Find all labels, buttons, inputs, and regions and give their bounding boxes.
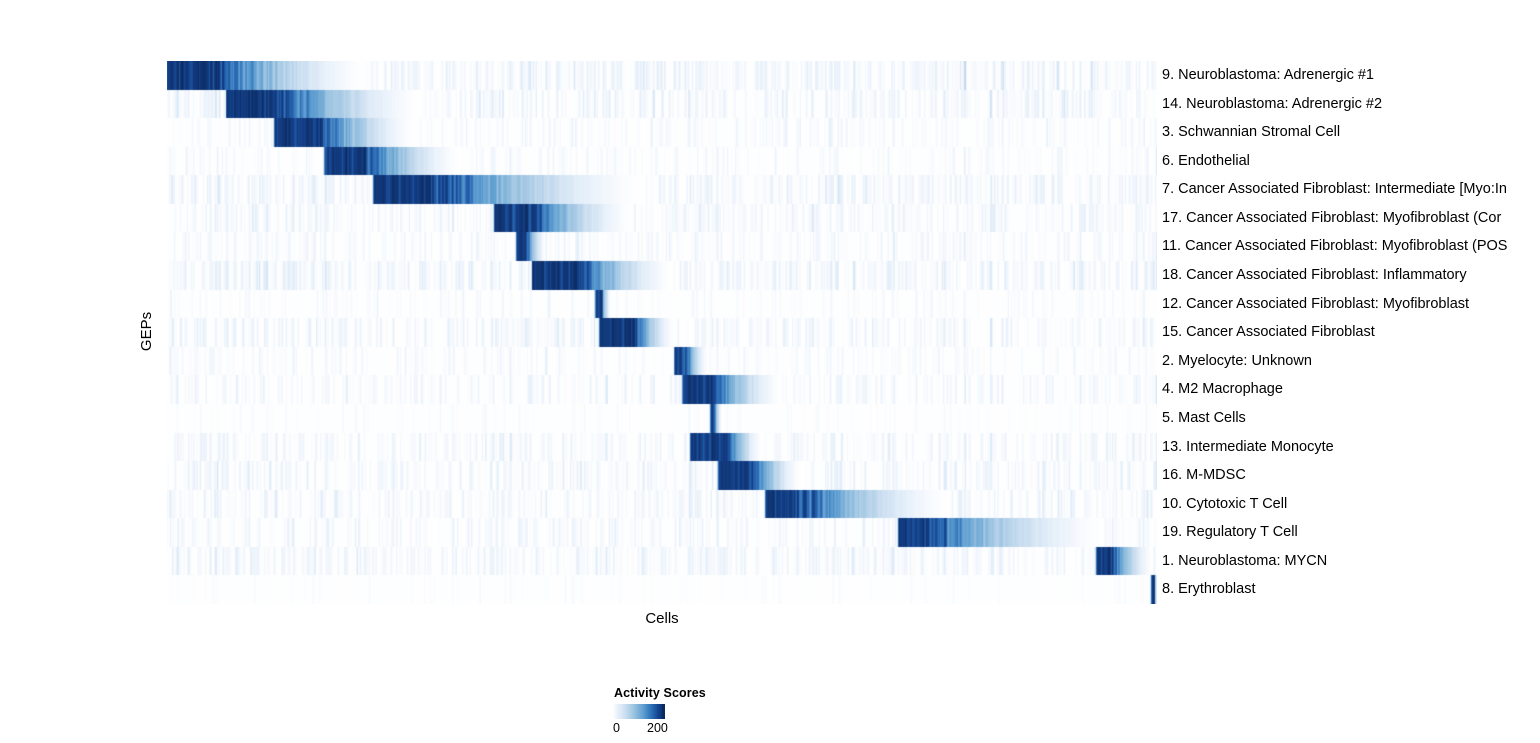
row-label: 10. Cytotoxic T Cell — [1162, 490, 1287, 519]
row-label: 8. Erythroblast — [1162, 575, 1256, 604]
row-label: 16. M-MDSC — [1162, 461, 1246, 490]
colorbar-legend: Activity Scores 0 200 — [613, 686, 813, 738]
heatmap-plot-area — [167, 61, 1157, 604]
row-label: 17. Cancer Associated Fibroblast: Myofib… — [1162, 204, 1501, 233]
colorbar-gradient — [613, 704, 665, 719]
row-label: 1. Neuroblastoma: MYCN — [1162, 547, 1327, 576]
y-axis-title: GEPs — [127, 281, 167, 381]
heatmap-canvas — [167, 61, 1157, 604]
row-label: 11. Cancer Associated Fibroblast: Myofib… — [1162, 232, 1507, 261]
colorbar-tick-min: 0 — [613, 721, 620, 735]
x-axis-title: Cells — [167, 610, 1157, 627]
row-label: 4. M2 Macrophage — [1162, 375, 1283, 404]
row-label: 9. Neuroblastoma: Adrenergic #1 — [1162, 61, 1374, 90]
row-label: 3. Schwannian Stromal Cell — [1162, 118, 1340, 147]
colorbar-tick-labels: 0 200 — [613, 721, 703, 737]
row-label: 15. Cancer Associated Fibroblast — [1162, 318, 1375, 347]
colorbar-max-tickmark — [662, 704, 665, 719]
row-label: 6. Endothelial — [1162, 147, 1250, 176]
colorbar-tick-max: 200 — [647, 721, 668, 735]
row-label: 13. Intermediate Monocyte — [1162, 433, 1334, 462]
legend-title: Activity Scores — [614, 686, 813, 700]
row-label: 7. Cancer Associated Fibroblast: Interme… — [1162, 175, 1507, 204]
row-label: 18. Cancer Associated Fibroblast: Inflam… — [1162, 261, 1467, 290]
y-axis-title-text: GEPs — [139, 311, 156, 350]
row-label: 2. Myelocyte: Unknown — [1162, 347, 1312, 376]
heatmap-figure: GEPs Cells 9. Neuroblastoma: Adrenergic … — [0, 0, 1540, 743]
row-label: 14. Neuroblastoma: Adrenergic #2 — [1162, 90, 1382, 119]
row-label: 19. Regulatory T Cell — [1162, 518, 1298, 547]
row-label: 12. Cancer Associated Fibroblast: Myofib… — [1162, 290, 1469, 319]
row-label: 5. Mast Cells — [1162, 404, 1246, 433]
row-label-list: 9. Neuroblastoma: Adrenergic #114. Neuro… — [1162, 61, 1540, 604]
